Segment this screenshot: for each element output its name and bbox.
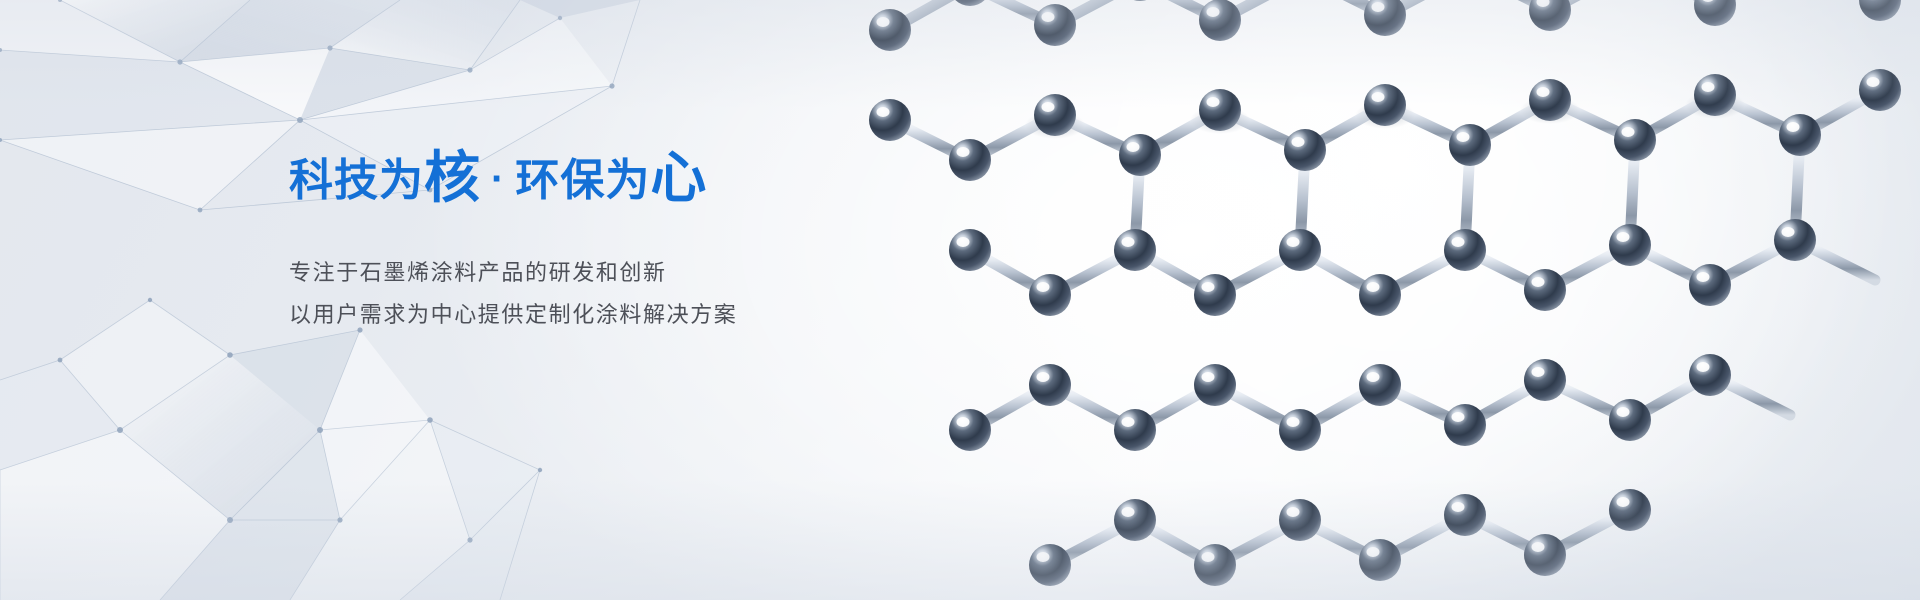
headline-segment-4-large: 心 <box>650 150 707 206</box>
hero-banner: 科技为核·环保为心 专注于石墨烯涂料产品的研发和创新 以用户需求为中心提供定制化… <box>0 0 1920 600</box>
headline-segment-3: 环保为 <box>515 159 650 203</box>
subtitle-line-2: 以用户需求为中心提供定制化涂料解决方案 <box>289 294 1049 336</box>
headline-separator: · <box>481 159 515 199</box>
headline-segment-1: 科技为 <box>289 159 424 203</box>
headline-segment-2-large: 核 <box>424 150 481 206</box>
subtitle-line-1: 专注于石墨烯涂料产品的研发和创新 <box>289 252 1049 294</box>
hero-copy: 科技为核·环保为心 专注于石墨烯涂料产品的研发和创新 以用户需求为中心提供定制化… <box>289 148 1049 336</box>
hero-subtitle: 专注于石墨烯涂料产品的研发和创新 以用户需求为中心提供定制化涂料解决方案 <box>289 252 1049 336</box>
page-title: 科技为核·环保为心 <box>289 148 1049 204</box>
lattice-glow <box>990 0 1890 600</box>
